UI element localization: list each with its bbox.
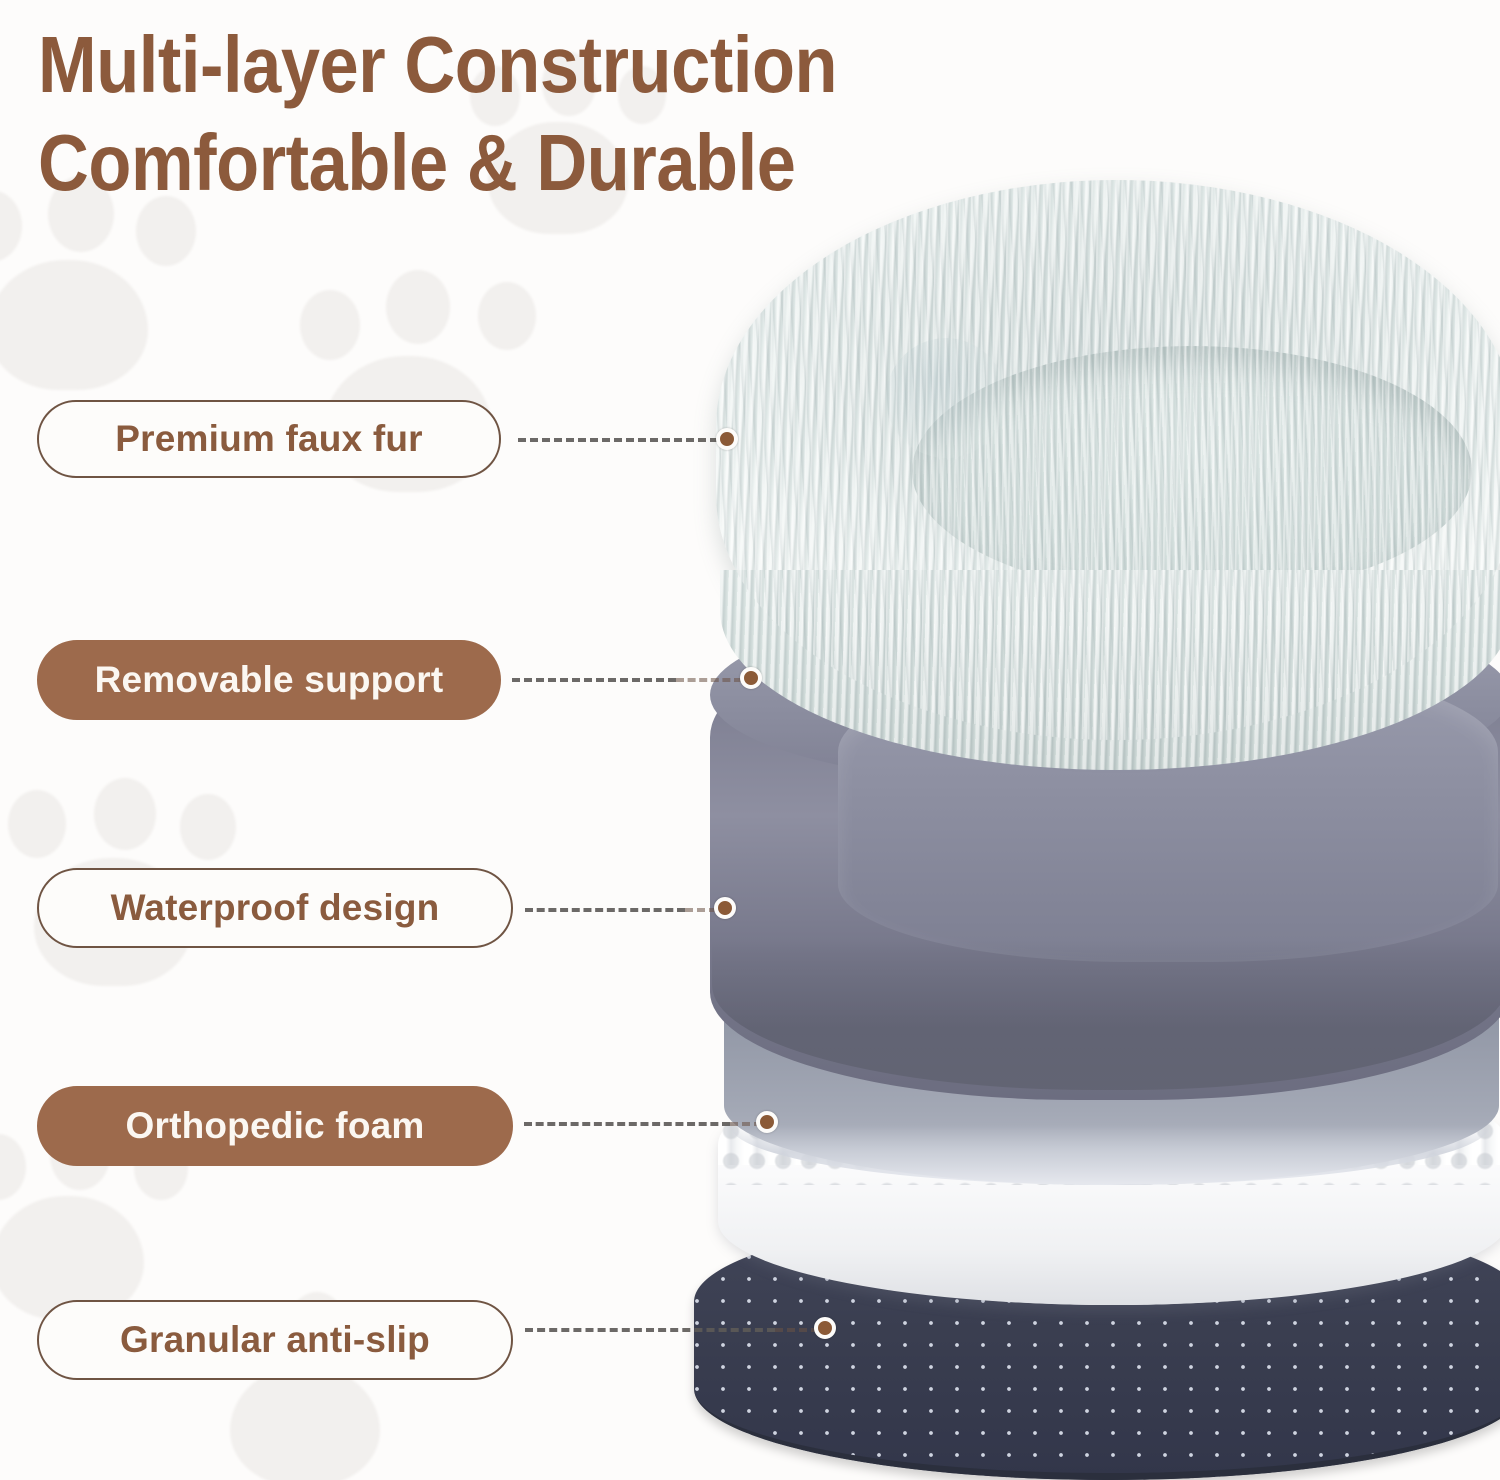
fur-inner-hollow — [912, 346, 1472, 596]
feature-label-granular-anti-slip[interactable]: Granular anti-slip — [37, 1300, 513, 1380]
infographic-canvas: Multi-layer Construction Comfortable & D… — [0, 0, 1500, 1480]
connector-orthopedic-foam — [524, 1122, 730, 1126]
connector-waterproof-design — [525, 908, 685, 912]
fur-skirt — [720, 570, 1500, 770]
connector-premium-faux-fur — [518, 438, 718, 442]
connector-waterproof-design-tail — [685, 908, 717, 912]
feature-label-waterproof-design[interactable]: Waterproof design — [37, 868, 513, 948]
product-illustration — [660, 150, 1500, 1480]
feature-label-removable-support[interactable]: Removable support — [37, 640, 501, 720]
connector-granular-anti-slip — [525, 1328, 775, 1332]
connector-granular-anti-slip-tail — [775, 1328, 819, 1332]
endpoint-dot-removable-support — [740, 667, 762, 689]
connector-removable-support-tail — [676, 678, 742, 682]
connector-removable-support — [512, 678, 676, 682]
endpoint-dot-premium-faux-fur — [716, 428, 738, 450]
page-title: Multi-layer Construction Comfortable & D… — [38, 16, 1024, 211]
feature-label-premium-faux-fur[interactable]: Premium faux fur — [37, 400, 501, 478]
endpoint-dot-waterproof-design — [714, 897, 736, 919]
endpoint-dot-granular-anti-slip — [814, 1317, 836, 1339]
layer-faux-fur-bolster — [716, 150, 1500, 750]
feature-label-orthopedic-foam[interactable]: Orthopedic foam — [37, 1086, 513, 1166]
endpoint-dot-orthopedic-foam — [756, 1111, 778, 1133]
paw-watermark — [0, 190, 190, 390]
